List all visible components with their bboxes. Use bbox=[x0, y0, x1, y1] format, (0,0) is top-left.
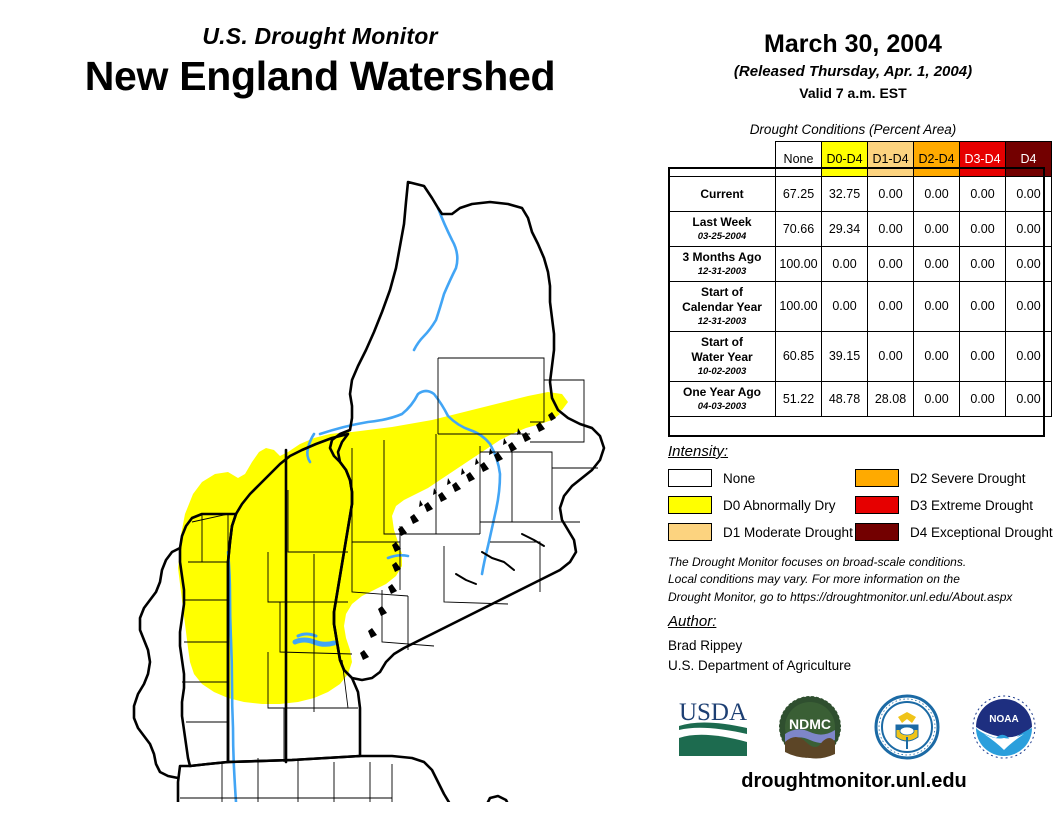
legend-swatch-d2 bbox=[855, 469, 899, 487]
cell-current-none: 67.25 bbox=[776, 177, 822, 212]
legend-item-none[interactable]: None bbox=[668, 466, 853, 490]
release-date: (Released Thursday, Apr. 1, 2004) bbox=[660, 63, 1046, 81]
table-row: One Year Ago 04-03-2003 51.22 48.78 28.0… bbox=[669, 381, 1052, 416]
author-block: Brad Rippey U.S. Department of Agricultu… bbox=[668, 636, 851, 677]
cell-current-d4: 0.00 bbox=[1006, 177, 1052, 212]
legend-item-d2[interactable]: D2 Severe Drought bbox=[855, 466, 1053, 490]
table-row: Last Week 03-25-2004 70.66 29.34 0.00 0.… bbox=[669, 212, 1052, 247]
row-label-start-water-year: Start ofWater Year 10-02-2003 bbox=[669, 331, 776, 381]
cell-wateryear-d2d4: 0.00 bbox=[914, 331, 960, 381]
program-title: U.S. Drought Monitor bbox=[0, 24, 640, 49]
drought-conditions-table: None D0-D4 D1-D4 D2-D4 D3-D4 D4 Current … bbox=[668, 141, 1052, 417]
usda-logo-text: USDA bbox=[678, 699, 746, 726]
cell-3months-d2d4: 0.00 bbox=[914, 247, 960, 282]
intensity-legend-title: Intensity: bbox=[668, 443, 728, 460]
legend-item-d0[interactable]: D0 Abnormally Dry bbox=[668, 493, 853, 517]
cell-lastweek-d4: 0.00 bbox=[1006, 212, 1052, 247]
row-label-date: 04-03-2003 bbox=[671, 401, 773, 413]
disclaimer-line-2: Local conditions may vary. For more info… bbox=[668, 571, 1048, 588]
legend-swatch-d3 bbox=[855, 496, 899, 514]
table-body: Current 67.25 32.75 0.00 0.00 0.00 0.00 … bbox=[669, 177, 1052, 417]
author-agency: U.S. Department of Agriculture bbox=[668, 656, 851, 676]
legend-label-d3: D3 Extreme Drought bbox=[910, 498, 1033, 513]
cell-3months-d4: 0.00 bbox=[1006, 247, 1052, 282]
ndmc-logo-text: NDMC bbox=[789, 716, 831, 732]
column-header-d2-d4: D2-D4 bbox=[914, 142, 960, 177]
cell-3months-d1d4: 0.00 bbox=[868, 247, 914, 282]
legend-label-none: None bbox=[723, 471, 755, 486]
cell-wateryear-d3d4: 0.00 bbox=[960, 331, 1006, 381]
column-header-d1-d4: D1-D4 bbox=[868, 142, 914, 177]
cell-calyear-none: 100.00 bbox=[776, 282, 822, 332]
legend-swatch-d0 bbox=[668, 496, 712, 514]
cell-calyear-d2d4: 0.00 bbox=[914, 282, 960, 332]
row-label-last-week: Last Week 03-25-2004 bbox=[669, 212, 776, 247]
cell-wateryear-d0d4: 39.15 bbox=[822, 331, 868, 381]
disclaimer-line-1: The Drought Monitor focuses on broad-sca… bbox=[668, 554, 1048, 571]
logo-strip: USDA NDMC bbox=[664, 688, 1052, 766]
row-label-text: Start ofWater Year bbox=[691, 335, 752, 364]
table-corner-cell bbox=[669, 142, 776, 177]
legend-label-d0: D0 Abnormally Dry bbox=[723, 498, 836, 513]
legend-item-d3[interactable]: D3 Extreme Drought bbox=[855, 493, 1053, 517]
cell-calyear-d1d4: 0.00 bbox=[868, 282, 914, 332]
row-label-start-calendar-year: Start ofCalendar Year 12-31-2003 bbox=[669, 282, 776, 332]
cell-wateryear-d4: 0.00 bbox=[1006, 331, 1052, 381]
legend-swatch-d1 bbox=[668, 523, 712, 541]
column-header-none: None bbox=[776, 142, 822, 177]
column-header-d3-d4: D3-D4 bbox=[960, 142, 1006, 177]
legend-item-d4[interactable]: D4 Exceptional Drought bbox=[855, 520, 1053, 544]
legend-swatch-d4 bbox=[855, 523, 899, 541]
map-container[interactable] bbox=[52, 122, 652, 802]
noaa-logo[interactable]: NOAA bbox=[964, 690, 1044, 764]
row-label-date: 03-25-2004 bbox=[671, 231, 773, 243]
legend-item-d1[interactable]: D1 Moderate Drought bbox=[668, 520, 853, 544]
cell-oneyear-d3d4: 0.00 bbox=[960, 381, 1006, 416]
legend-label-d2: D2 Severe Drought bbox=[910, 471, 1026, 486]
cell-oneyear-d2d4: 0.00 bbox=[914, 381, 960, 416]
legend-label-d4: D4 Exceptional Drought bbox=[910, 525, 1053, 540]
info-panel: March 30, 2004 (Released Thursday, Apr. … bbox=[660, 0, 1056, 816]
table-header-row: None D0-D4 D1-D4 D2-D4 D3-D4 D4 bbox=[669, 142, 1052, 177]
legend-swatch-none bbox=[668, 469, 712, 487]
cell-lastweek-d3d4: 0.00 bbox=[960, 212, 1006, 247]
usdc-noaa-seal-logo[interactable] bbox=[867, 690, 947, 764]
map-panel: U.S. Drought Monitor New England Watersh… bbox=[0, 0, 660, 816]
cell-3months-d0d4: 0.00 bbox=[822, 247, 868, 282]
new-england-watershed-map[interactable] bbox=[52, 122, 652, 802]
column-header-d4: D4 bbox=[1006, 142, 1052, 177]
date-block: March 30, 2004 (Released Thursday, Apr. … bbox=[660, 30, 1046, 102]
cell-current-d0d4: 32.75 bbox=[822, 177, 868, 212]
valid-time: Valid 7 a.m. EST bbox=[660, 85, 1046, 102]
row-label-3-months-ago: 3 Months Ago 12-31-2003 bbox=[669, 247, 776, 282]
row-label-date: 12-31-2003 bbox=[671, 316, 773, 328]
report-date: March 30, 2004 bbox=[660, 30, 1046, 59]
legend-column-left: None D0 Abnormally Dry D1 Moderate Droug… bbox=[668, 466, 853, 547]
cell-lastweek-d0d4: 29.34 bbox=[822, 212, 868, 247]
row-label-text: Start ofCalendar Year bbox=[682, 285, 762, 314]
row-label-text: 3 Months Ago bbox=[683, 250, 762, 264]
cell-lastweek-none: 70.66 bbox=[776, 212, 822, 247]
row-label-date: 12-31-2003 bbox=[671, 266, 773, 278]
table-row: Start ofWater Year 10-02-2003 60.85 39.1… bbox=[669, 331, 1052, 381]
table-row: Start ofCalendar Year 12-31-2003 100.00 … bbox=[669, 282, 1052, 332]
usda-logo[interactable]: USDA bbox=[673, 690, 753, 764]
cell-oneyear-none: 51.22 bbox=[776, 381, 822, 416]
website-url[interactable]: droughtmonitor.unl.edu bbox=[660, 770, 1048, 793]
region-title: New England Watershed bbox=[0, 53, 640, 100]
row-label-text: Current bbox=[700, 187, 743, 201]
table-row: 3 Months Ago 12-31-2003 100.00 0.00 0.00… bbox=[669, 247, 1052, 282]
cell-lastweek-d2d4: 0.00 bbox=[914, 212, 960, 247]
d0-abnormally-dry-region bbox=[178, 392, 568, 704]
cell-oneyear-d0d4: 48.78 bbox=[822, 381, 868, 416]
column-header-d0-d4: D0-D4 bbox=[822, 142, 868, 177]
row-label-text: Last Week bbox=[692, 215, 751, 229]
ndmc-logo[interactable]: NDMC bbox=[770, 690, 850, 764]
cell-current-d2d4: 0.00 bbox=[914, 177, 960, 212]
legend-label-d1: D1 Moderate Drought bbox=[723, 525, 853, 540]
noaa-logo-text: NOAA bbox=[989, 714, 1018, 725]
row-label-text: One Year Ago bbox=[683, 385, 761, 399]
table-caption: Drought Conditions (Percent Area) bbox=[660, 122, 1046, 137]
cell-current-d1d4: 0.00 bbox=[868, 177, 914, 212]
author-heading: Author: bbox=[668, 613, 716, 630]
cell-calyear-d0d4: 0.00 bbox=[822, 282, 868, 332]
cell-3months-d3d4: 0.00 bbox=[960, 247, 1006, 282]
cell-calyear-d4: 0.00 bbox=[1006, 282, 1052, 332]
row-label-date: 10-02-2003 bbox=[671, 366, 773, 378]
author-name: Brad Rippey bbox=[668, 636, 851, 656]
disclaimer-text: The Drought Monitor focuses on broad-sca… bbox=[668, 554, 1048, 606]
cell-3months-none: 100.00 bbox=[776, 247, 822, 282]
cell-wateryear-none: 60.85 bbox=[776, 331, 822, 381]
disclaimer-line-3: Drought Monitor, go to https://droughtmo… bbox=[668, 589, 1048, 606]
row-label-one-year-ago: One Year Ago 04-03-2003 bbox=[669, 381, 776, 416]
cell-lastweek-d1d4: 0.00 bbox=[868, 212, 914, 247]
cell-oneyear-d4: 0.00 bbox=[1006, 381, 1052, 416]
cell-wateryear-d1d4: 0.00 bbox=[868, 331, 914, 381]
cell-oneyear-d1d4: 28.08 bbox=[868, 381, 914, 416]
table-row: Current 67.25 32.75 0.00 0.00 0.00 0.00 bbox=[669, 177, 1052, 212]
row-label-current: Current bbox=[669, 177, 776, 212]
cell-calyear-d3d4: 0.00 bbox=[960, 282, 1006, 332]
title-block: U.S. Drought Monitor New England Watersh… bbox=[0, 24, 640, 100]
cell-current-d3d4: 0.00 bbox=[960, 177, 1006, 212]
legend-column-right: D2 Severe Drought D3 Extreme Drought D4 … bbox=[855, 466, 1053, 547]
